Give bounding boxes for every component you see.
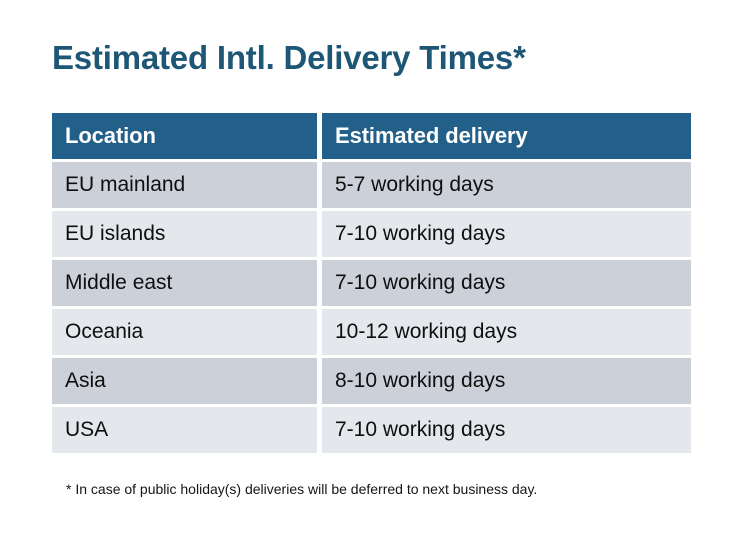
footnote-text: * In case of public holiday(s) deliverie… (66, 480, 537, 498)
table-cell-location: EU mainland (52, 162, 317, 208)
table-row: USA 7-10 working days (52, 407, 691, 453)
table-header-label-location: Location (65, 123, 156, 149)
table-cell-estimated-delivery-value: 8-10 working days (335, 369, 505, 393)
table-header-cell-location: Location (52, 113, 317, 159)
table-cell-location-value: EU islands (65, 222, 165, 246)
table-header-label-estimated-delivery: Estimated delivery (335, 123, 528, 149)
table-cell-estimated-delivery-value: 7-10 working days (335, 271, 505, 295)
table-cell-estimated-delivery: 7-10 working days (322, 260, 691, 306)
table-row: EU islands 7-10 working days (52, 211, 691, 257)
table-cell-estimated-delivery: 8-10 working days (322, 358, 691, 404)
table-cell-location-value: Middle east (65, 271, 172, 295)
table-row: Asia 8-10 working days (52, 358, 691, 404)
table-cell-location: EU islands (52, 211, 317, 257)
page-title: Estimated Intl. Delivery Times* (52, 38, 526, 78)
table-row: EU mainland 5-7 working days (52, 162, 691, 208)
table-cell-estimated-delivery: 7-10 working days (322, 211, 691, 257)
table-cell-location-value: EU mainland (65, 173, 185, 197)
table-header-row: Location Estimated delivery (52, 113, 691, 159)
table-cell-estimated-delivery-value: 5-7 working days (335, 173, 494, 197)
table-cell-location: Middle east (52, 260, 317, 306)
delivery-times-page: Estimated Intl. Delivery Times* Location… (0, 0, 745, 536)
table-cell-estimated-delivery: 5-7 working days (322, 162, 691, 208)
table-cell-estimated-delivery: 10-12 working days (322, 309, 691, 355)
table-header-cell-estimated-delivery: Estimated delivery (322, 113, 691, 159)
table-cell-estimated-delivery-value: 7-10 working days (335, 418, 505, 442)
table-cell-location: Oceania (52, 309, 317, 355)
table-cell-location: Asia (52, 358, 317, 404)
table-cell-estimated-delivery-value: 7-10 working days (335, 222, 505, 246)
table-cell-location-value: USA (65, 418, 108, 442)
table-cell-location-value: Oceania (65, 320, 143, 344)
delivery-times-table: Location Estimated delivery EU mainland … (52, 113, 691, 453)
table-row: Oceania 10-12 working days (52, 309, 691, 355)
table-row: Middle east 7-10 working days (52, 260, 691, 306)
table-cell-location-value: Asia (65, 369, 106, 393)
table-cell-estimated-delivery: 7-10 working days (322, 407, 691, 453)
table-cell-location: USA (52, 407, 317, 453)
table-cell-estimated-delivery-value: 10-12 working days (335, 320, 517, 344)
